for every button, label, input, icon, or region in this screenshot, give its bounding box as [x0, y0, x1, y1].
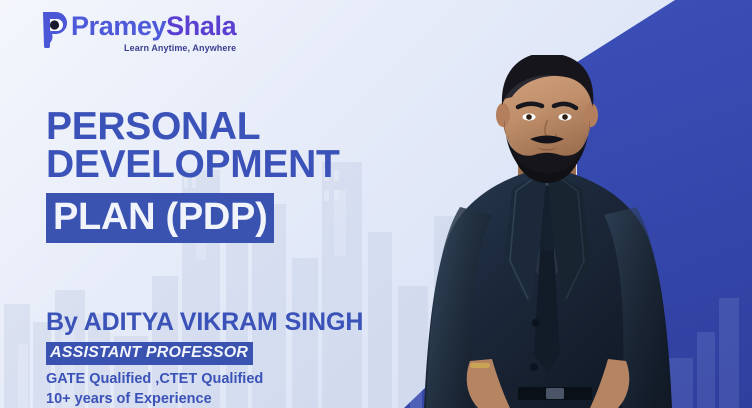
brand-name-part2: Shala: [166, 11, 236, 41]
headline-line-1: PERSONAL: [46, 108, 340, 146]
brand-name: PrameyShala: [71, 13, 236, 40]
presenter-role-badge: ASSISTANT PROFESSOR: [46, 342, 253, 365]
presenter-name: By ADITYA VIKRAM SINGH: [46, 310, 363, 335]
brand-logo[interactable]: PrameyShala Learn Anytime, Anywhere: [40, 10, 236, 53]
brand-tagline: Learn Anytime, Anywhere: [71, 43, 236, 53]
presentation-slide: PrameyShala Learn Anytime, Anywhere: [0, 0, 752, 408]
brand-name-part1: Pramey: [71, 11, 166, 41]
presenter-info: By ADITYA VIKRAM SINGH ASSISTANT PROFESS…: [46, 310, 363, 408]
prameyshala-p-mark-icon: [40, 10, 70, 48]
presenter-portrait: [400, 55, 700, 408]
headline-line-2: DEVELOPMENT: [46, 146, 340, 184]
presenter-qualification: GATE Qualified ,CTET Qualified: [46, 370, 363, 389]
headline-highlighted-line: PLAN (PDP): [46, 193, 274, 243]
presenter-experience: 10+ years of Experience: [46, 390, 363, 408]
slide-headline: PERSONAL DEVELOPMENT PLAN (PDP): [46, 108, 340, 243]
